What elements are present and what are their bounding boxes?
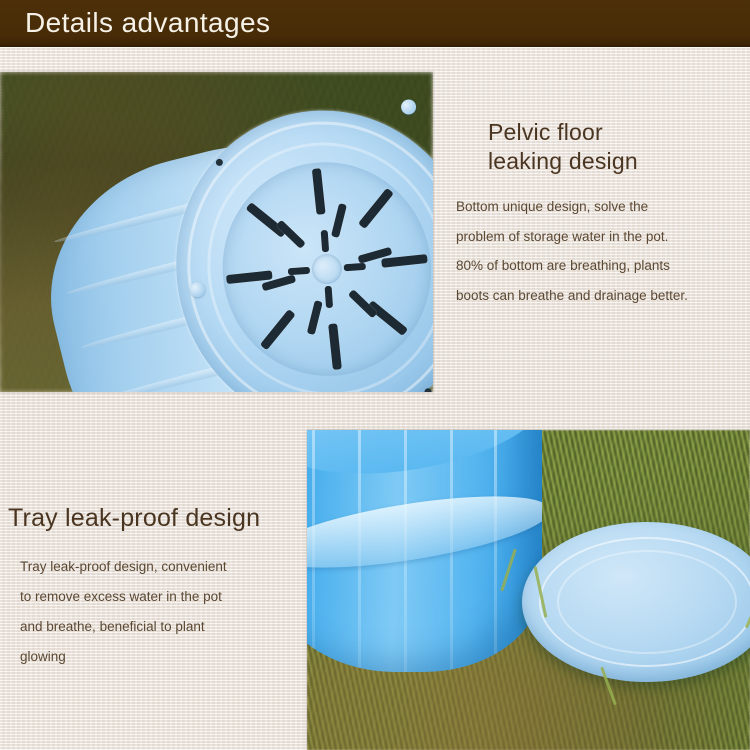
- section-heading: Tray leak-proof design: [8, 502, 308, 534]
- section-body: Bottom unique design, solve the problem …: [456, 192, 750, 310]
- section-heading: Pelvic floor leaking design: [488, 118, 750, 176]
- section-tray-leak-proof: Tray leak-proof design Tray leak-proof d…: [8, 502, 308, 672]
- section-pelvic-floor: Pelvic floor leaking design Bottom uniqu…: [488, 118, 750, 310]
- pot-base-nub: [399, 98, 417, 116]
- pot-illustration: [307, 430, 542, 672]
- drain-hub: [309, 251, 345, 287]
- header-bar: Details advantages: [0, 0, 750, 47]
- pot-with-tray-photo: [307, 430, 750, 750]
- section-body: Tray leak-proof design, convenient to re…: [20, 552, 308, 672]
- pot-base-pinhole: [424, 387, 432, 392]
- page-title: Details advantages: [25, 6, 270, 40]
- pot-base-pinhole: [215, 158, 223, 166]
- pot-opening: [307, 430, 542, 492]
- pot-bottom-drainage-photo: [0, 72, 433, 392]
